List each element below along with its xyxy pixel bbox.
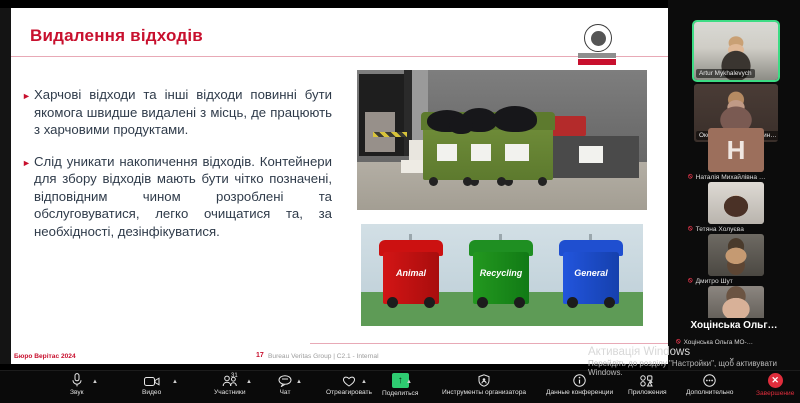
screen-share-area[interactable]: Видалення відходів ► Харчові відходи та … [0,0,668,370]
bullet-text: Харчові відходи та інші відходи повинні … [34,86,332,139]
toolbar-item-share[interactable]: ↑ Поделиться [382,373,418,397]
windows-activation-watermark: Активація Windows Перейдіть до розділу "… [588,346,800,377]
toolbar-item-audio[interactable]: Звук [70,373,84,396]
toolbar-item-host-tools[interactable]: Инструменты организатора [442,373,526,396]
toolbar-label: Звук [70,389,84,396]
participant-name-row: ⦸ Тетяна Холуєва [688,225,800,233]
info-icon [573,373,586,387]
share-options-caret[interactable]: ▲ [406,379,412,385]
mic-off-icon: ⦸ [688,173,693,181]
overflowing-green-dumpsters-photo [357,70,647,210]
shield-icon [478,373,490,387]
footer-right-text: Bureau Veritas Group | C2.1 - Internal [268,353,379,360]
audio-options-caret[interactable]: ▲ [92,379,98,385]
video-options-caret[interactable]: ▲ [172,379,178,385]
heart-icon [342,373,356,387]
participant-name-row: ⦸ Наталія Михайлівна … [688,173,800,181]
toolbar-label: Чат [280,389,291,396]
slide-bullet-list: ► Харчові відходи та інші відходи повинн… [22,86,332,254]
title-divider [11,56,668,57]
bullet-item: ► Харчові відходи та інші відходи повинн… [22,86,332,139]
reactions-options-caret[interactable]: ▲ [361,379,367,385]
logo-seal-icon [584,24,612,52]
mic-off-icon: ⦸ [688,277,693,285]
participant-name: Наталія Михайлівна … [696,174,766,181]
microphone-icon [72,373,82,387]
participant-name: Дмитро Шут [696,278,733,285]
bullet-marker-icon: ► [22,88,34,139]
bureau-veritas-logo [578,24,616,64]
spotlight-name-row: ⦸ Хоцінська Ольга МО-… [676,338,794,346]
toolbar-item-participants[interactable]: Участники [214,373,246,396]
zoom-meeting-window: Видалення відходів ► Харчові відходи та … [0,0,800,402]
participant-name: Artur Mykhalevych [696,69,755,78]
participant-tile[interactable] [708,234,764,276]
chat-bubble-icon [278,373,292,387]
toolbar-label: Поделиться [382,390,418,397]
activation-subtitle: Перейдіть до розділу "Настройки", щоб ак… [588,359,800,377]
toolbar-label: Участники [214,389,246,396]
toolbar-label: Дополнительно [686,389,733,396]
logo-wordmark-bottom [578,59,616,65]
apps-options-caret[interactable]: ▲ [648,379,654,385]
activation-title: Активація Windows [588,346,800,358]
chat-options-caret[interactable]: ▲ [296,379,302,385]
spotlight-title: Хоцінська Ольг… [674,320,794,331]
toolbar-item-video[interactable]: Видео [142,373,161,396]
footer-left-text: Бюро Верітас 2024 [14,353,76,360]
footer-divider [310,343,668,344]
toolbar-label: Данные конференции [546,389,613,396]
camera-icon [144,373,160,387]
participant-tile[interactable] [708,182,764,224]
slide-page-number: 17 [256,352,264,359]
participant-name: Тетяна Холуєва [696,226,744,233]
participant-tile[interactable]: Artur Mykhalevych [694,22,778,80]
toolbar-label: Приложения [628,389,667,396]
spotlight-name: Хоцінська Ольга МО-… [684,339,753,346]
toolbar-label: Видео [142,389,161,396]
participant-tile[interactable]: Н [708,128,764,172]
slide-left-accent-strip [0,8,11,364]
mic-off-icon: ⦸ [688,225,693,233]
toolbar-label: Инструменты организатора [442,389,526,396]
participant-video-rail[interactable]: Artur Mykhalevych Оксана Кочубей-Литвин…… [668,0,800,370]
logo-wordmark-top [578,53,616,58]
presentation-slide: Видалення відходів ► Харчові відходи та … [0,8,668,364]
participants-count-badge: 31 [231,373,238,379]
bullet-text: Слід уникати накопичення відходів. Конте… [34,153,332,241]
slide-title: Видалення відходів [30,26,203,46]
participants-options-caret[interactable]: ▲ [246,379,252,385]
bullet-item: ► Слід уникати накопичення відходів. Кон… [22,153,332,241]
avatar: Н [708,128,764,172]
toolbar-label: Отреагировать [326,389,372,396]
toolbar-item-chat[interactable]: Чат [278,373,292,396]
toolbar-label: Завершение [756,390,794,397]
bullet-marker-icon: ► [22,155,34,241]
three-colour-wheelie-bins-illustration: Animal Recycling General [357,220,647,330]
participant-name-row: ⦸ Дмитро Шут [688,277,800,285]
mic-off-icon: ⦸ [676,338,681,346]
